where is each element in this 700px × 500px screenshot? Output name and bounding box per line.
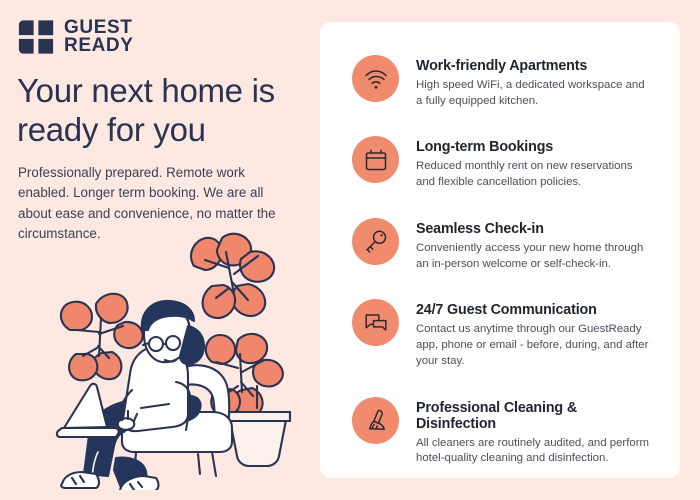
woman-working-on-laptop-in-armchair-with-plants-illustration — [26, 222, 316, 490]
feature-text: 24/7 Guest Communication Contact us anyt… — [416, 299, 654, 369]
feature-title: Seamless Check-in — [416, 221, 654, 237]
feature-description: Contact us anytime through our GuestRead… — [416, 322, 654, 369]
calendar-icon-badge — [352, 136, 399, 183]
wifi-icon-badge — [352, 55, 399, 102]
features-card: Work-friendly Apartments High speed WiFi… — [320, 22, 680, 478]
feature-text: Professional Cleaning & Disinfection All… — [416, 397, 660, 467]
broom-icon — [363, 407, 389, 433]
feature-title: Long-term Bookings — [416, 139, 654, 155]
feature-item-work-friendly-apartments[interactable]: Work-friendly Apartments High speed WiFi… — [352, 55, 660, 109]
chat-bubbles-icon — [363, 310, 389, 336]
feature-list: Work-friendly Apartments High speed WiFi… — [320, 22, 680, 467]
feature-title: 24/7 Guest Communication — [416, 302, 654, 318]
key-icon — [363, 228, 389, 254]
feature-description: All cleaners are routinely audited, and … — [416, 436, 654, 467]
promo-page: GUEST READY Your next home is ready for … — [0, 0, 700, 500]
feature-text: Long-term Bookings Reduced monthly rent … — [416, 136, 654, 190]
brand-name-line2: READY — [64, 37, 134, 55]
guestready-square-mark-icon — [17, 18, 55, 56]
feature-description: Reduced monthly rent on new reservations… — [416, 159, 654, 190]
feature-title: Professional Cleaning & Disinfection — [416, 400, 660, 432]
feature-item-guest-communication[interactable]: 24/7 Guest Communication Contact us anyt… — [352, 299, 660, 369]
feature-item-professional-cleaning[interactable]: Professional Cleaning & Disinfection All… — [352, 397, 660, 467]
page-title: Your next home is ready for you — [17, 72, 307, 149]
feature-description: High speed WiFi, a dedicated workspace a… — [416, 78, 654, 109]
feature-text: Seamless Check-in Conveniently access yo… — [416, 218, 654, 272]
calendar-icon — [363, 147, 389, 173]
feature-item-seamless-check-in[interactable]: Seamless Check-in Conveniently access yo… — [352, 218, 660, 272]
feature-text: Work-friendly Apartments High speed WiFi… — [416, 55, 654, 109]
plant-right-back — [191, 234, 274, 318]
chat-bubbles-icon-badge — [352, 299, 399, 346]
feature-title: Work-friendly Apartments — [416, 58, 654, 74]
wifi-icon — [363, 66, 389, 92]
hero-column: GUEST READY Your next home is ready for … — [0, 0, 320, 500]
brand-logo[interactable]: GUEST READY — [17, 18, 134, 56]
feature-description: Conveniently access your new home throug… — [416, 241, 654, 272]
key-icon-badge — [352, 218, 399, 265]
feature-item-long-term-bookings[interactable]: Long-term Bookings Reduced monthly rent … — [352, 136, 660, 190]
broom-icon-badge — [352, 397, 399, 444]
